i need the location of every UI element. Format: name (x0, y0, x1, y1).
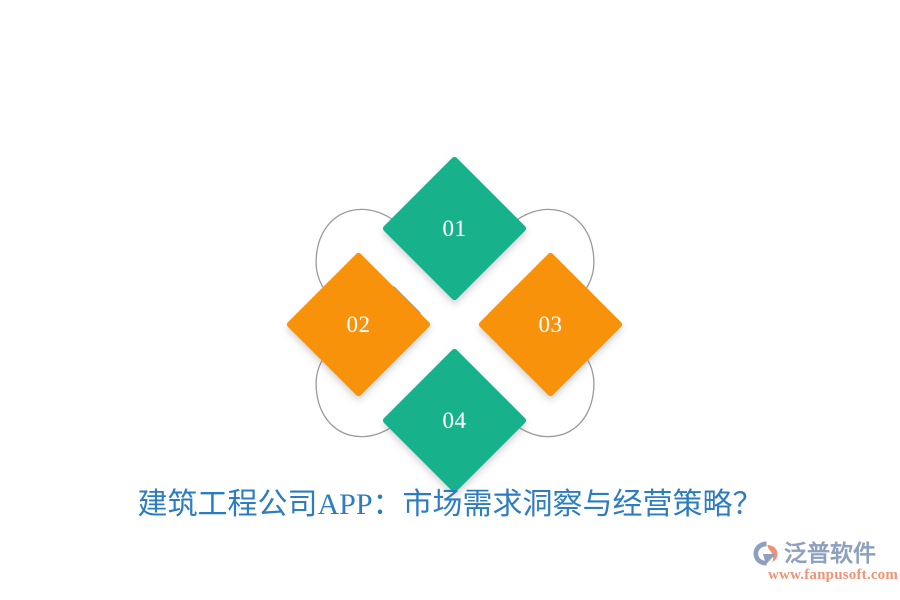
diagram-node-02-label: 02 (307, 273, 410, 376)
page-title: 建筑工程公司APP：市场需求洞察与经营策略？ (0, 484, 900, 526)
brand-name: 泛普软件 (784, 540, 876, 567)
fanpu-logo-icon (752, 540, 782, 567)
diagram-node-04[interactable]: 04 (382, 348, 528, 494)
fanpu-logo-icon-svg (752, 540, 782, 567)
page-canvas: 01 02 03 04 建筑工程公司APP：市场需求洞察与经营策略？ 泛普软件 … (0, 0, 900, 600)
brand-url: www.fanpusoft.com (768, 567, 898, 584)
diagram-node-03-label: 03 (499, 273, 602, 376)
four-diamond-diagram: 01 02 03 04 (298, 163, 612, 483)
brand-logo: 泛普软件 www.fanpusoft.com (752, 540, 892, 590)
diagram-node-01-label: 01 (403, 177, 506, 280)
brand-logo-row: 泛普软件 (752, 540, 876, 567)
diagram-node-04-label: 04 (403, 369, 506, 472)
